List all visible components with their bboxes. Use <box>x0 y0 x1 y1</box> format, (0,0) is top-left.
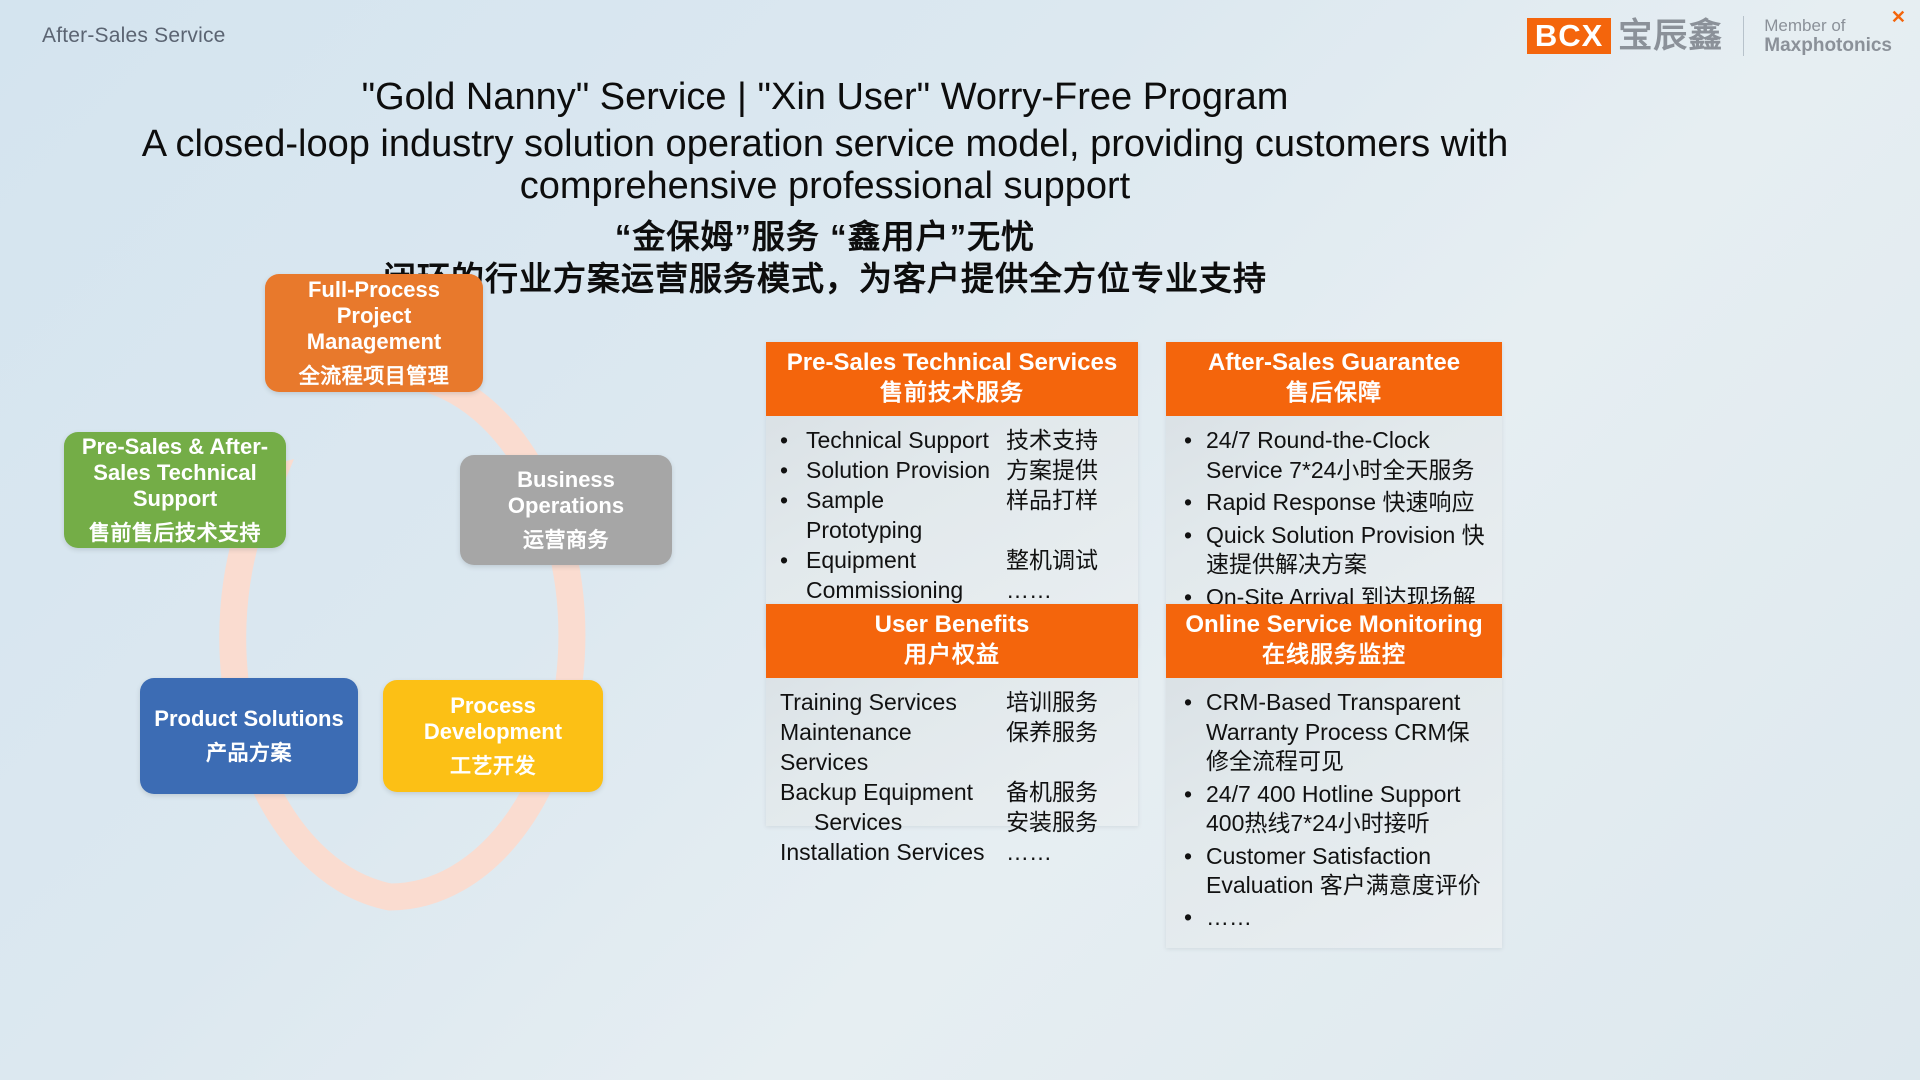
list-item: • Customer Satisfaction Evaluation 客户满意度… <box>1180 842 1488 901</box>
card-header: Online Service Monitoring 在线服务监控 <box>1166 604 1502 678</box>
bcx-logo-mark: BCX <box>1527 18 1611 55</box>
list-item-en: Services <box>780 808 1006 838</box>
list-item-cn: 保养服务 <box>1006 718 1124 778</box>
list-item: Maintenance Services 保养服务 <box>780 718 1124 778</box>
list-item-cn: …… <box>1006 576 1124 606</box>
bullet-icon: • <box>780 456 806 486</box>
bullet-icon: • <box>780 426 806 456</box>
card-body: Training Services 培训服务 Maintenance Servi… <box>766 678 1138 879</box>
list-item-cn: 整机调试 <box>1006 546 1124 576</box>
bullet-icon: • <box>1180 426 1206 485</box>
list-item-cn: 培训服务 <box>1006 688 1124 718</box>
bullet-icon: • <box>780 486 806 546</box>
bullet-icon: • <box>1180 688 1206 776</box>
list-item-text: …… <box>1206 903 1488 932</box>
list-item-cn: 备机服务 <box>1006 778 1124 808</box>
list-item-en: Commissioning <box>806 576 1006 606</box>
card-body: • CRM-Based Transparent Warranty Process… <box>1166 678 1502 948</box>
list-item: Commissioning …… <box>780 576 1124 606</box>
list-item-en: Maintenance Services <box>780 718 1006 778</box>
cycle-node-label-en: Full-Process Project Management <box>275 277 473 355</box>
card-title-cn: 售后保障 <box>1172 379 1496 405</box>
list-item-text: Customer Satisfaction Evaluation 客户满意度评价 <box>1206 842 1488 901</box>
cycle-node-label-en: Pre-Sales & After-Sales Technical Suppor… <box>74 434 276 512</box>
bullet-icon: • <box>780 546 806 576</box>
list-item: • 24/7 Round-the-Clock Service 7*24小时全天服… <box>1180 426 1488 485</box>
bullet-icon: • <box>1180 780 1206 839</box>
card-title-en: Pre-Sales Technical Services <box>772 350 1132 377</box>
list-item-cn: 样品打样 <box>1006 486 1124 546</box>
cycle-node-label-cn: 运营商务 <box>523 528 609 553</box>
page-title: "Gold Nanny" Service | "Xin User" Worry-… <box>110 76 1540 119</box>
list-item-cn: …… <box>1006 838 1124 868</box>
slide-title-block: "Gold Nanny" Service | "Xin User" Worry-… <box>110 76 1540 300</box>
card-pre-sales-technical-services[interactable]: Pre-Sales Technical Services 售前技术服务 • Te… <box>766 342 1138 648</box>
cycle-node-label-cn: 售前售后技术支持 <box>89 521 261 546</box>
bcx-logo-chinese: 宝辰鑫 <box>1618 19 1723 53</box>
card-header: After-Sales Guarantee 售后保障 <box>1166 342 1502 416</box>
list-item-en: Technical Support <box>806 426 1006 456</box>
list-item: • …… <box>1180 903 1488 932</box>
member-of-maxphotonics: Member of Maxphotonics ✕ <box>1764 16 1892 56</box>
list-item: Services 安装服务 <box>780 808 1124 838</box>
list-item-cn: 安装服务 <box>1006 808 1124 838</box>
header-bar: After-Sales Service BCX 宝辰鑫 Member of Ma… <box>0 0 1920 72</box>
list-item-text: 24/7 Round-the-Clock Service 7*24小时全天服务 <box>1206 426 1488 485</box>
bullet-list: • CRM-Based Transparent Warranty Process… <box>1180 688 1488 933</box>
list-item-en: Sample Prototyping <box>806 486 1006 546</box>
cycle-node-label-cn: 工艺开发 <box>450 754 536 779</box>
list-item-text: CRM-Based Transparent Warranty Process C… <box>1206 688 1488 776</box>
list-item-text: Rapid Response 快速响应 <box>1206 488 1488 517</box>
card-title-cn: 用户权益 <box>772 641 1132 667</box>
cycle-node-business-operations[interactable]: Business Operations 运营商务 <box>460 455 672 565</box>
list-item: • Quick Solution Provision 快速提供解决方案 <box>1180 521 1488 580</box>
section-eyebrow-label: After-Sales Service <box>42 24 226 48</box>
card-title-cn: 售前技术服务 <box>772 379 1132 405</box>
list-item: Backup Equipment 备机服务 <box>780 778 1124 808</box>
bullet-icon: • <box>1180 903 1206 932</box>
cycle-node-label-cn: 产品方案 <box>206 741 292 766</box>
card-header: Pre-Sales Technical Services 售前技术服务 <box>766 342 1138 416</box>
list-item: Installation Services …… <box>780 838 1124 868</box>
list-item: • 24/7 400 Hotline Support 400热线7*24小时接听 <box>1180 780 1488 839</box>
list-item: • Solution Provision 方案提供 <box>780 456 1124 486</box>
card-title-en: User Benefits <box>772 612 1132 639</box>
maxphotonics-x-icon: ✕ <box>1891 7 1906 27</box>
list-item-en: Backup Equipment <box>780 778 1006 808</box>
list-item-en: Solution Provision <box>806 456 1006 486</box>
card-title-en: After-Sales Guarantee <box>1172 350 1496 377</box>
card-header: User Benefits 用户权益 <box>766 604 1138 678</box>
page-subtitle: A closed-loop industry solution operatio… <box>110 123 1540 208</box>
brand-logo: BCX 宝辰鑫 Member of Maxphotonics ✕ <box>1527 12 1892 60</box>
list-item: • Rapid Response 快速响应 <box>1180 488 1488 517</box>
bullet-icon: • <box>1180 842 1206 901</box>
cycle-node-label-en: Business Operations <box>470 467 662 519</box>
bullet-icon: • <box>1180 521 1206 580</box>
cycle-node-process-development[interactable]: Process Development 工艺开发 <box>383 680 603 792</box>
cycle-node-label-en: Process Development <box>393 693 593 745</box>
list-item: • Sample Prototyping 样品打样 <box>780 486 1124 546</box>
card-online-service-monitoring[interactable]: Online Service Monitoring 在线服务监控 • CRM-B… <box>1166 604 1502 948</box>
list-item: • CRM-Based Transparent Warranty Process… <box>1180 688 1488 776</box>
card-title-cn: 在线服务监控 <box>1172 641 1496 667</box>
logo-divider <box>1743 16 1744 56</box>
list-item-cn: 技术支持 <box>1006 426 1124 456</box>
list-item: Training Services 培训服务 <box>780 688 1124 718</box>
cycle-node-product-solutions[interactable]: Product Solutions 产品方案 <box>140 678 358 794</box>
list-item-cn: 方案提供 <box>1006 456 1124 486</box>
cycle-node-technical-support[interactable]: Pre-Sales & After-Sales Technical Suppor… <box>64 432 286 548</box>
cycle-node-label-en: Product Solutions <box>154 706 343 732</box>
list-item-text: 24/7 400 Hotline Support 400热线7*24小时接听 <box>1206 780 1488 839</box>
bullet-icon: • <box>1180 488 1206 517</box>
cycle-node-project-management[interactable]: Full-Process Project Management 全流程项目管理 <box>265 274 483 392</box>
closed-loop-cycle-diagram: Full-Process Project Management 全流程项目管理 … <box>55 300 755 940</box>
list-item: • Equipment 整机调试 <box>780 546 1124 576</box>
list-item-en: Training Services <box>780 688 1006 718</box>
cycle-node-label-cn: 全流程项目管理 <box>299 364 450 389</box>
member-line-1: Member of <box>1764 16 1892 35</box>
bullet-icon <box>780 576 806 606</box>
card-user-benefits[interactable]: User Benefits 用户权益 Training Services 培训服… <box>766 604 1138 826</box>
list-item-en: Equipment <box>806 546 1006 576</box>
card-title-en: Online Service Monitoring <box>1172 612 1496 639</box>
list-item: • Technical Support 技术支持 <box>780 426 1124 456</box>
list-item-en: Installation Services <box>780 838 1006 868</box>
page-title-chinese: “金保姆”服务 “鑫用户”无忧 <box>110 216 1540 258</box>
member-line-2: Maxphotonics <box>1764 35 1892 56</box>
list-item-text: Quick Solution Provision 快速提供解决方案 <box>1206 521 1488 580</box>
